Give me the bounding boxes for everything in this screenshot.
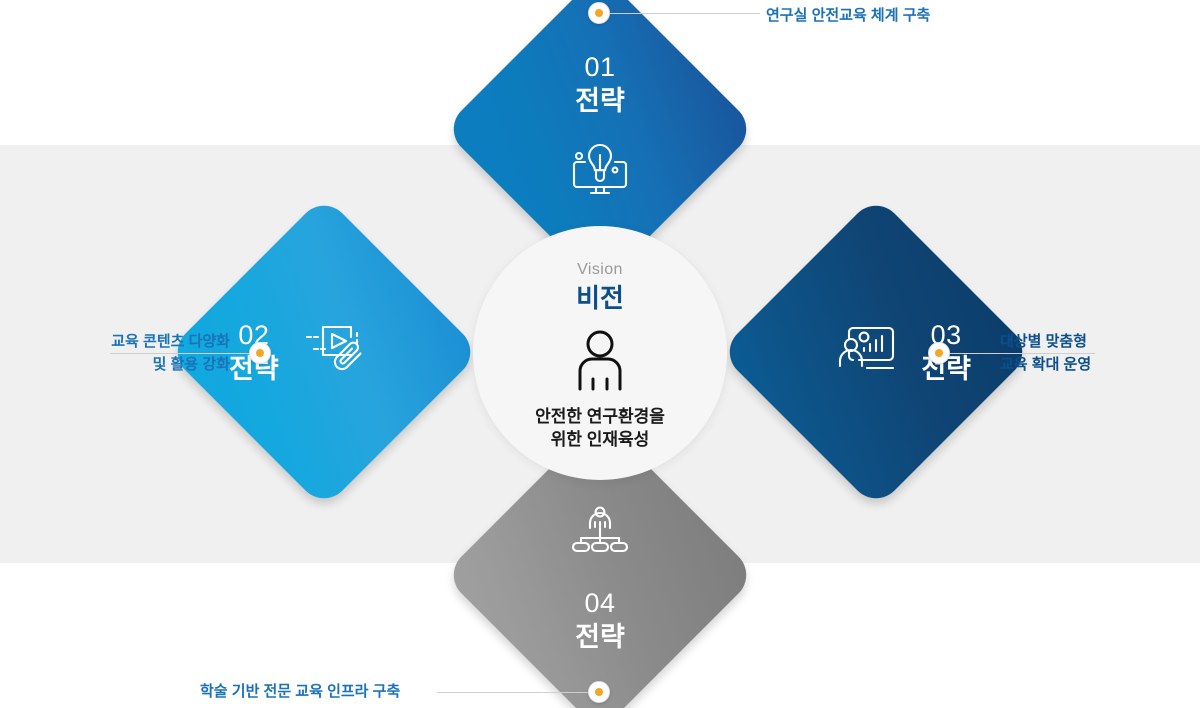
connector-line-01 xyxy=(610,13,760,14)
strategy-01-word: 전략 xyxy=(575,86,625,116)
strategy-diamond-03[interactable]: 03 전략 xyxy=(719,195,1033,509)
strategy-03-label[interactable]: 대상별 맞춤형 교육 확대 운영 xyxy=(1000,331,1185,376)
connector-dot-03-core xyxy=(935,349,943,357)
strategy-04-caption: 04 전략 xyxy=(575,588,625,652)
connector-dot-04-core xyxy=(595,688,603,696)
vision-label-en: Vision xyxy=(577,262,623,278)
connector-dot-02[interactable] xyxy=(249,342,271,364)
vision-strategy-diagram: 01 전략 02 전략 xyxy=(0,0,1200,708)
strategy-04-content: 04 전략 xyxy=(489,464,711,686)
video-attachment-icon xyxy=(301,319,367,386)
vision-label-ko: 비전 xyxy=(576,284,624,313)
strategy-01-label[interactable]: 연구실 안전교육 체계 구축 xyxy=(766,5,930,28)
connector-dot-01[interactable] xyxy=(588,2,610,24)
vision-description: 안전한 연구환경을 위한 인재육성 xyxy=(535,406,665,452)
strategy-01-content: 01 전략 xyxy=(489,18,711,240)
strategy-04-number: 04 xyxy=(575,588,625,618)
monitor-lightbulb-icon xyxy=(569,142,631,205)
strategy-01-number: 01 xyxy=(575,52,625,82)
connector-dot-04[interactable] xyxy=(588,681,610,703)
connector-dot-03[interactable] xyxy=(928,342,950,364)
strategy-01-caption: 01 전략 xyxy=(575,52,625,116)
strategy-02-content: 02 전략 xyxy=(213,241,435,463)
org-chart-icon xyxy=(571,505,629,562)
strategy-03-content: 03 전략 xyxy=(765,241,987,463)
connector-line-04 xyxy=(437,692,589,693)
strategy-02-label[interactable]: 교육 콘텐츠 다양화 및 활용 강화 xyxy=(20,331,230,376)
strategy-04-word: 전략 xyxy=(575,622,625,652)
strategy-04-label[interactable]: 학술 기반 전문 교육 인프라 구축 xyxy=(200,681,400,704)
person-icon xyxy=(574,329,626,398)
connector-dot-02-core xyxy=(256,349,264,357)
presentation-chart-person-icon xyxy=(837,322,899,383)
vision-circle: Vision 비전 안전한 연구환경을 위한 인재육성 xyxy=(473,226,727,480)
connector-dot-01-core xyxy=(595,9,603,17)
